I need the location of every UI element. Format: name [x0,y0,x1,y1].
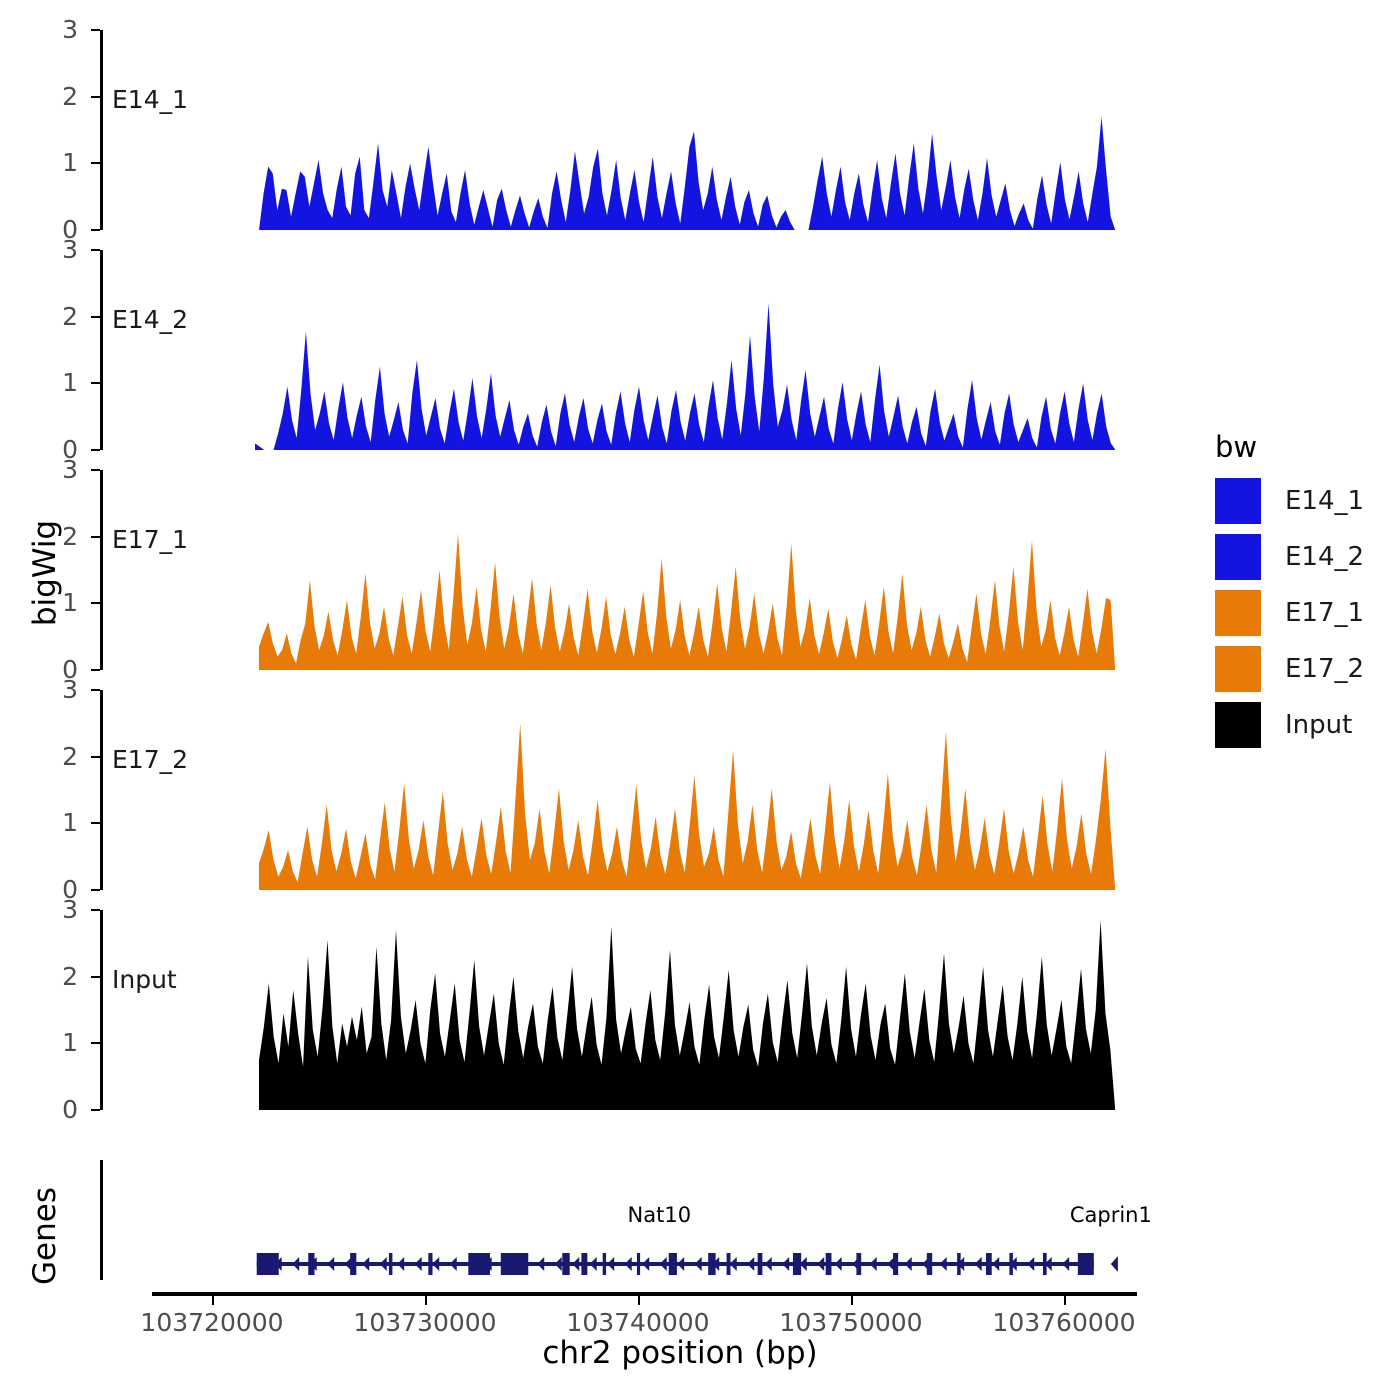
plot-area-e17_1 [259,470,1115,670]
y-tick-label: 3 [44,897,78,922]
legend-item-e14_1[interactable]: E14_1 [1215,478,1364,524]
legend-label-e17_2: E17_2 [1285,654,1364,684]
y-tick [91,162,100,164]
legend-label-e14_1: E14_1 [1285,486,1364,516]
plot-area-e14_1 [259,30,1115,230]
y-tick [91,249,100,251]
x-axis-title: chr2 position (bp) [230,1335,1130,1371]
y-tick-label: 2 [44,84,78,109]
track-label-e17_2: E17_2 [112,745,188,774]
y-tick [91,602,100,604]
track-label-e17_1: E17_1 [112,525,188,554]
y-tick-label: 1 [44,150,78,175]
y-tick-label: 2 [44,304,78,329]
legend-swatch-e14_1 [1215,478,1261,524]
legend-label-e14_2: E14_2 [1285,542,1364,572]
legend-label-input: Input [1285,710,1352,740]
x-tick-label: 103750000 [751,1308,951,1337]
y-tick [91,889,100,891]
legend-title: bw [1215,430,1257,464]
x-axis-line [152,1292,1137,1296]
y-tick-label: 1 [44,590,78,615]
x-tick [212,1296,214,1305]
x-tick-label: 103720000 [112,1308,312,1337]
y-tick-label: 1 [44,1030,78,1055]
y-tick-label: 1 [44,370,78,395]
y-tick [91,976,100,978]
y-axis-line [100,30,103,230]
x-tick [638,1296,640,1305]
y-tick-label: 3 [44,677,78,702]
y-axis-line [100,910,103,1110]
y-tick [91,29,100,31]
y-axis-line [100,470,103,670]
genome-browser-figure: bigWig Genes 0123E14_10123E14_20123E17_1… [0,0,1400,1400]
plot-area-e17_2 [259,690,1115,890]
legend-swatch-e14_2 [1215,534,1261,580]
legend-swatch-e17_1 [1215,590,1261,636]
legend-swatch-e17_2 [1215,646,1261,692]
y-tick-label: 2 [44,524,78,549]
y-tick [91,1109,100,1111]
y-axis-line [100,250,103,450]
track-label-e14_1: E14_1 [112,85,188,114]
legend-item-e17_2[interactable]: E17_2 [1215,646,1364,692]
y-tick [91,536,100,538]
x-tick-label: 103740000 [538,1308,738,1337]
legend-item-input[interactable]: Input [1215,702,1352,748]
track-label-input: Input [112,965,177,994]
y-tick-label: 3 [44,17,78,42]
y-axis-line [100,690,103,890]
legend-label-e17_1: E17_1 [1285,598,1364,628]
y-tick [91,1042,100,1044]
track-panel-input: 0123Input [0,0,1400,1]
y-tick-label: 2 [44,744,78,769]
plot-area-input [259,910,1115,1110]
x-tick-label: 103730000 [325,1308,525,1337]
y-tick [91,96,100,98]
x-tick [1064,1296,1066,1305]
gene-models [0,1240,1400,1300]
y-tick-label: 0 [44,1097,78,1122]
legend-item-e14_2[interactable]: E14_2 [1215,534,1364,580]
y-tick [91,449,100,451]
y-tick-label: 3 [44,457,78,482]
legend-item-e17_1[interactable]: E17_1 [1215,590,1364,636]
y-tick [91,229,100,231]
y-tick-label: 3 [44,237,78,262]
signal-area-e17_2 [259,690,1115,890]
signal-area-e17_1 [259,470,1115,670]
signal-area-input [259,910,1115,1110]
signal-area-e14_1 [259,30,1115,230]
y-tick [91,669,100,671]
x-tick [851,1296,853,1305]
y-tick [91,909,100,911]
y-tick [91,822,100,824]
y-tick [91,382,100,384]
y-tick-label: 2 [44,964,78,989]
signal-area-e14_2 [255,250,1116,450]
y-tick [91,469,100,471]
y-axis-label: bigWig [27,483,63,663]
gene-label-caprin1: Caprin1 [1011,1203,1211,1227]
y-tick [91,316,100,318]
plot-area-e14_2 [255,250,1116,450]
y-tick-label: 1 [44,810,78,835]
gene-label-nat10: Nat10 [559,1203,759,1227]
legend-swatch-input [1215,702,1261,748]
track-label-e14_2: E14_2 [112,305,188,334]
y-tick [91,756,100,758]
x-tick [425,1296,427,1305]
y-tick [91,689,100,691]
x-tick-label: 103760000 [964,1308,1164,1337]
